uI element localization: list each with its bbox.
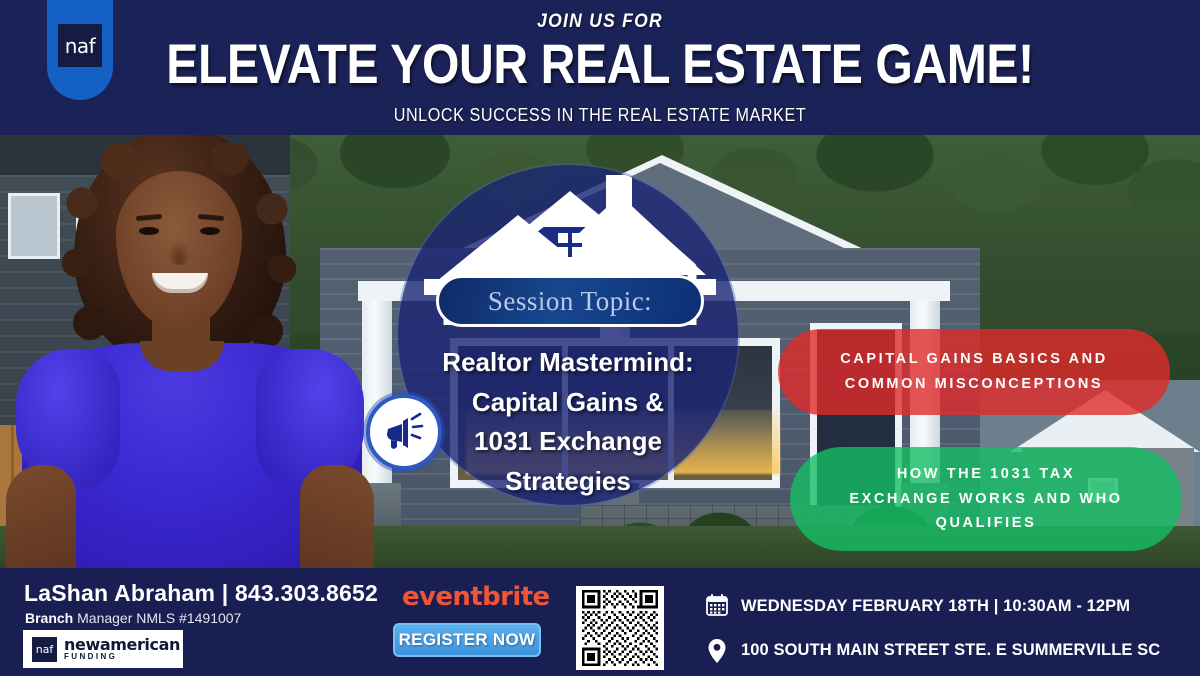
session-topic-label-pill: Session Topic: (436, 275, 704, 327)
presenter-portrait (0, 135, 400, 568)
contact-title: Branch Manager NMLS #1491007 (25, 610, 241, 626)
naf-brand-logo: naf newamerican FUNDING (23, 630, 183, 668)
event-location-text: 100 SOUTH MAIN STREET STE. E SUMMERVILLE… (741, 641, 1160, 660)
event-details: WEDNESDAY FEBRUARY 18TH | 10:30AM - 12PM… (706, 584, 1186, 672)
bullet-line: EXCHANGE WORKS AND WHO (849, 487, 1122, 512)
event-date-text: WEDNESDAY FEBRUARY 18TH | 10:30AM - 12PM (741, 597, 1130, 616)
eyebrow-text: JOIN US FOR (48, 11, 1152, 33)
naf-logo-badge: naf (32, 637, 57, 662)
session-topic-title: Realtor Mastermind: Capital Gains & 1031… (398, 343, 738, 501)
session-title-line: Realtor Mastermind: (424, 343, 712, 383)
bullet-pill-1031-exchange: HOW THE 1031 TAX EXCHANGE WORKS AND WHO … (790, 447, 1182, 551)
bullet-line: CAPITAL GAINS BASICS AND (840, 347, 1108, 372)
session-title-line: 1031 Exchange (424, 422, 712, 462)
event-flyer: naf JOIN US FOR ELEVATE YOUR REAL ESTATE… (0, 0, 1200, 676)
qr-code[interactable] (576, 586, 664, 670)
contact-title-bold: Branch (25, 610, 73, 626)
company-tagline: FUNDING (64, 653, 180, 661)
contact-name: LaShan Abraham | 843.303.8652 (24, 580, 378, 607)
megaphone-icon (366, 394, 442, 470)
arm-left (6, 465, 76, 568)
session-topic-circle: Session Topic: Realtor Mastermind: Capit… (398, 165, 738, 505)
register-now-button[interactable]: REGISTER NOW (393, 623, 541, 657)
location-pin-icon (706, 638, 728, 662)
page-subtitle: UNLOCK SUCCESS IN THE REAL ESTATE MARKET (60, 105, 1140, 126)
eye-shape (139, 227, 159, 235)
company-name: newamerican (64, 637, 180, 653)
event-location-row: 100 SOUTH MAIN STREET STE. E SUMMERVILLE… (706, 628, 1186, 672)
bullet-line: QUALIFIES (849, 511, 1122, 536)
naf-logo-text: naf (36, 643, 54, 656)
session-title-line: Strategies (424, 462, 712, 502)
session-topic-label: Session Topic: (488, 286, 652, 317)
bullet-pill-capital-gains: CAPITAL GAINS BASICS AND COMMON MISCONCE… (778, 329, 1170, 415)
page-title: ELEVATE YOUR REAL ESTATE GAME! (84, 33, 1116, 96)
bullet-line: COMMON MISCONCEPTIONS (840, 372, 1108, 397)
calendar-icon (706, 594, 728, 618)
eventbrite-logo: eventbrite (402, 582, 550, 612)
event-date-row: WEDNESDAY FEBRUARY 18TH | 10:30AM - 12PM (706, 584, 1186, 628)
arm-right (300, 465, 374, 568)
flyer-header: naf JOIN US FOR ELEVATE YOUR REAL ESTATE… (0, 0, 1200, 135)
hero-section: Session Topic: Realtor Mastermind: Capit… (0, 135, 1200, 568)
bullet-line: HOW THE 1031 TAX (849, 462, 1122, 487)
contact-title-rest: Manager NMLS #1491007 (73, 610, 241, 626)
nose-shape (167, 239, 191, 265)
eye-shape (200, 227, 220, 235)
session-title-line: Capital Gains & (424, 383, 712, 423)
